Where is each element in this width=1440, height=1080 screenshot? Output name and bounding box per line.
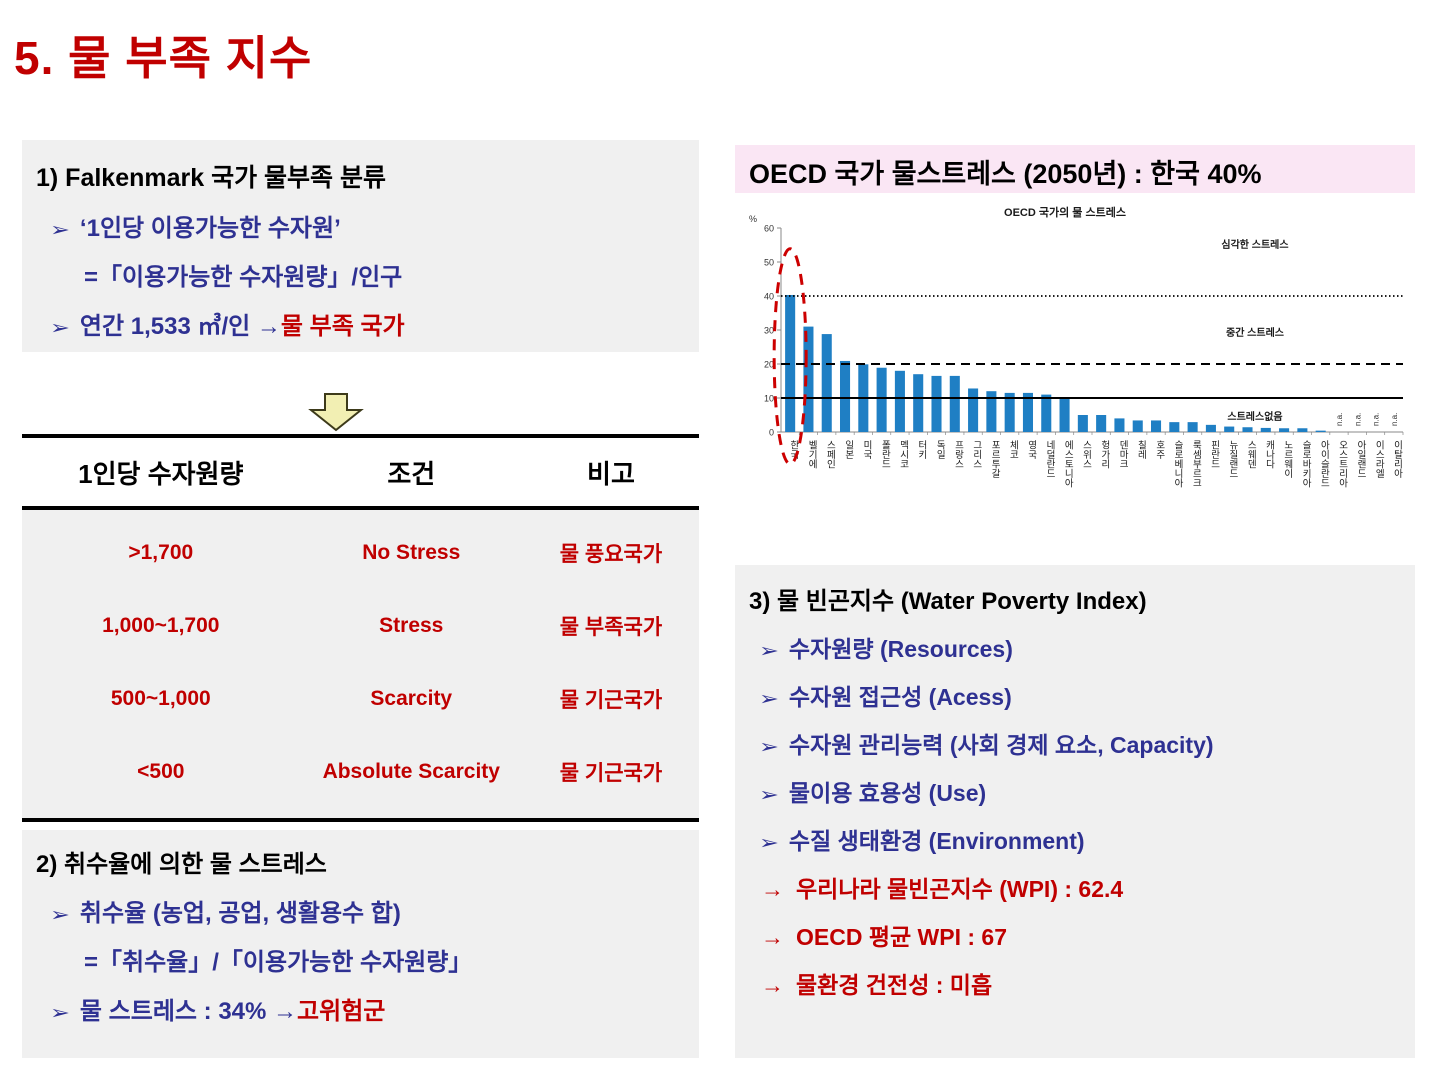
- chart-x-label: 캐나다: [1263, 440, 1274, 469]
- table-cell-condition: Scarcity: [300, 687, 523, 711]
- chart-x-label: 폴란드: [879, 440, 890, 469]
- table-row: <500 Absolute Scarcity 물 기근국가: [22, 735, 699, 808]
- section3-conclusion-1: → 우리나라 물빈곤지수 (WPI) : 62.4: [761, 870, 1415, 904]
- chart-threshold-label: 심각한 스트레스: [1221, 238, 1288, 251]
- section3-bullet-3-text: 수자원 관리능력 (사회 경제 요소, Capacity): [789, 726, 1214, 760]
- bullet-arrow-icon: ➢: [50, 317, 70, 340]
- down-arrow-icon: [308, 392, 364, 432]
- table-row: >1,700 No Stress 물 풍요국가: [22, 516, 699, 589]
- falkenmark-table: 1인당 수자원량 조건 비고 >1,700 No Stress 물 풍요국가 1…: [22, 434, 699, 820]
- section3-bullet-4: ➢ 물이용 효용성 (Use): [761, 774, 1415, 808]
- section1-bullet-2: =「이용가능한 수자원량」/인구: [84, 257, 699, 292]
- chart-x-label: 독일: [934, 440, 945, 459]
- table-cell-amount: >1,700: [22, 541, 300, 565]
- bullet-arrow-icon: ➢: [50, 219, 70, 242]
- bullet-arrow-icon: ➢: [50, 1002, 70, 1025]
- chart-x-label: 멕시코: [898, 440, 909, 469]
- table-cell-condition: Absolute Scarcity: [300, 760, 523, 784]
- chart-bar: [1078, 415, 1088, 432]
- section3-heading: 3) 물 빈곤지수 (Water Poverty Index): [749, 581, 1415, 616]
- table-cell-amount: 1,000~1,700: [22, 614, 300, 638]
- chart-x-label: 프랑스: [952, 440, 963, 469]
- section3-bullet-1: ➢ 수자원량 (Resources): [761, 630, 1415, 664]
- chart-bar: [1261, 428, 1271, 432]
- section1-bullet-1: ➢ ‘1인당 이용가능한 수자원’: [52, 208, 699, 243]
- chart-bar: [1151, 420, 1161, 432]
- bullet-arrow-icon: ➢: [759, 640, 779, 663]
- chart-bar: [1297, 428, 1307, 432]
- chart-bar: [1060, 397, 1070, 432]
- water-poverty-panel: 3) 물 빈곤지수 (Water Poverty Index) ➢ 수자원량 (…: [735, 565, 1415, 1058]
- table-row: 1,000~1,700 Stress 물 부족국가: [22, 589, 699, 662]
- right-arrow-icon: →: [761, 924, 784, 951]
- chart-na-label: n.a.: [1335, 413, 1344, 426]
- table-cell-condition: Stress: [300, 614, 523, 638]
- water-stress-panel: 2) 취수율에 의한 물 스트레스 ➢ 취수율 (농업, 공업, 생활용수 합)…: [22, 830, 699, 1058]
- section1-bullet-3: ➢ 연간 1,533 ㎥/인 → 물 부족 국가: [52, 306, 699, 341]
- chart-x-label: 에스토니아: [1062, 440, 1073, 488]
- section3-bullet-5-text: 수질 생태환경 (Environment): [789, 822, 1085, 856]
- chart-x-label: 뉴질랜드: [1227, 440, 1238, 478]
- chart-bar: [1114, 418, 1124, 432]
- chart-x-label: 호주: [1154, 440, 1165, 460]
- section1-bullet-1-text: ‘1인당 이용가능한 수자원’: [80, 208, 341, 243]
- table-cell-amount: 500~1,000: [22, 687, 300, 711]
- chart-x-label: 슬로베니아: [1172, 440, 1183, 488]
- oecd-water-stress-chart: OECD 국가의 물 스트레스%0102030405060한국벨기에스페인일본미…: [735, 200, 1415, 530]
- table-cell-note: 물 풍요국가: [523, 538, 699, 568]
- chart-x-label: 룩셈부르크: [1190, 440, 1201, 488]
- chart-bar: [1133, 420, 1143, 432]
- oecd-banner-text: OECD 국가 물스트레스 (2050년) : 한국 40%: [749, 152, 1262, 191]
- section1-heading: 1) Falkenmark 국가 물부족 분류: [36, 158, 699, 194]
- chart-canvas: OECD 국가의 물 스트레스%0102030405060한국벨기에스페인일본미…: [735, 200, 1415, 530]
- chart-y-tick-label: 30: [764, 326, 774, 336]
- section2-bullet-1-text: 취수율 (농업, 공업, 생활용수 합): [80, 893, 401, 928]
- chart-x-label: 스위스: [1081, 440, 1092, 469]
- section3-conclusion-2-text: OECD 평균 WPI : 67: [796, 918, 1007, 952]
- chart-y-unit: %: [749, 214, 757, 224]
- chart-na-label: n.a.: [1390, 413, 1399, 426]
- chart-x-label: 포르투갈: [989, 440, 1000, 478]
- chart-bar: [1206, 425, 1216, 432]
- chart-x-label: 핀란드: [1209, 440, 1220, 469]
- section2-bullet-3: ➢ 물 스트레스 : 34% → 고위험군: [52, 991, 699, 1026]
- section2-bullet-1: ➢ 취수율 (농업, 공업, 생활용수 합): [52, 893, 699, 928]
- section3-bullet-2: ➢ 수자원 접근성 (Acess): [761, 678, 1415, 712]
- chart-bar: [1279, 428, 1289, 432]
- section3-conclusion-3: → 물환경 건전성 : 미흡: [761, 966, 1415, 1000]
- table-cell-amount: <500: [22, 760, 300, 784]
- table-col-header-1: 조건: [300, 454, 523, 491]
- page-title: 5. 물 부족 지수: [14, 22, 312, 88]
- chart-bar: [931, 376, 941, 432]
- section2-bullet-2-text: =「취수율」/「이용가능한 수자원량」: [84, 942, 472, 977]
- section3-bullet-5: ➢ 수질 생태환경 (Environment): [761, 822, 1415, 856]
- chart-x-label: 그리스: [971, 440, 982, 469]
- chart-x-label: 체코: [1007, 440, 1018, 459]
- chart-y-tick-label: 40: [764, 292, 774, 302]
- section1-bullet-2-text: =「이용가능한 수자원량」/인구: [84, 257, 402, 292]
- chart-x-label: 칠레: [1135, 440, 1146, 460]
- chart-bar: [1316, 431, 1326, 432]
- chart-bar: [1188, 422, 1198, 432]
- chart-x-label: 노르웨이: [1282, 440, 1293, 479]
- chart-y-tick-label: 50: [764, 258, 774, 268]
- table-col-header-2: 비고: [523, 454, 699, 491]
- chart-na-label: n.a.: [1372, 413, 1381, 426]
- chart-x-label: 터키: [916, 440, 927, 460]
- bullet-arrow-icon: ➢: [50, 904, 70, 927]
- chart-title: OECD 국가의 물 스트레스: [1004, 205, 1126, 219]
- chart-y-tick-label: 60: [764, 224, 774, 234]
- chart-x-label: 오스트리아: [1337, 440, 1348, 488]
- chart-bar: [1096, 415, 1106, 432]
- chart-bar: [895, 371, 905, 432]
- slide-root: 5. 물 부족 지수 1) Falkenmark 국가 물부족 분류 ➢ ‘1인…: [0, 0, 1440, 1080]
- chart-y-tick-label: 20: [764, 360, 774, 370]
- table-header-row: 1인당 수자원량 조건 비고: [22, 438, 699, 506]
- chart-bar: [840, 361, 850, 432]
- section2-bullet-3-emphasis: 고위험군: [297, 991, 385, 1026]
- bullet-arrow-icon: ➢: [759, 832, 779, 855]
- chart-threshold-label: 중간 스트레스: [1226, 326, 1284, 339]
- chart-y-tick-label: 10: [764, 394, 774, 404]
- section1-bullet-3-emphasis: 물 부족 국가: [281, 306, 405, 341]
- table-bottom-rule: [22, 818, 699, 822]
- chart-bar: [1242, 427, 1252, 432]
- table-cell-note: 물 부족국가: [523, 611, 699, 641]
- chart-threshold-label: 스트레스없음: [1227, 410, 1282, 423]
- chart-bar: [950, 376, 960, 432]
- chart-x-label: 네덜란드: [1044, 440, 1055, 478]
- section1-bullet-3-text: 연간 1,533 ㎥/인 →: [80, 306, 281, 341]
- chart-bar: [822, 334, 832, 432]
- chart-x-label: 한국: [788, 440, 799, 460]
- section3-bullet-4-text: 물이용 효용성 (Use): [789, 774, 986, 808]
- chart-bar: [913, 374, 923, 432]
- chart-x-label: 벨기에: [806, 440, 817, 469]
- table-row: 500~1,000 Scarcity 물 기근국가: [22, 662, 699, 735]
- chart-x-label: 헝가리: [1099, 440, 1110, 469]
- chart-bar: [877, 368, 887, 432]
- chart-bar: [968, 388, 978, 432]
- right-arrow-icon: →: [761, 876, 784, 903]
- bullet-arrow-icon: ➢: [759, 736, 779, 759]
- table-col-header-0: 1인당 수자원량: [22, 454, 300, 491]
- chart-x-label: 슬로바키아: [1300, 440, 1311, 488]
- section2-bullet-3-text: 물 스트레스 : 34% →: [80, 991, 297, 1026]
- chart-x-label: 덴마크: [1117, 440, 1128, 469]
- table-cell-note: 물 기근국가: [523, 684, 699, 714]
- section3-conclusion-2: → OECD 평균 WPI : 67: [761, 918, 1415, 952]
- chart-x-label: 미국: [861, 440, 872, 460]
- chart-x-label: 스페인: [824, 440, 835, 469]
- chart-x-label: 아이슬란드: [1318, 440, 1329, 488]
- chart-bar: [1224, 427, 1234, 432]
- falkenmark-panel: 1) Falkenmark 국가 물부족 분류 ➢ ‘1인당 이용가능한 수자원…: [22, 140, 699, 352]
- section3-bullet-1-text: 수자원량 (Resources): [789, 630, 1013, 664]
- chart-x-label: 이스라엘: [1373, 440, 1384, 478]
- chart-x-label: 스웨덴: [1245, 440, 1256, 469]
- table-cell-condition: No Stress: [300, 541, 523, 565]
- chart-bar: [1169, 422, 1179, 432]
- chart-x-label: 영국: [1026, 440, 1037, 460]
- section2-heading: 2) 취수율에 의한 물 스트레스: [36, 844, 699, 879]
- bullet-arrow-icon: ➢: [759, 784, 779, 807]
- chart-x-label: 이탈리아: [1392, 440, 1403, 479]
- section3-bullet-2-text: 수자원 접근성 (Acess): [789, 678, 1012, 712]
- chart-na-label: n.a.: [1353, 413, 1362, 426]
- chart-y-tick-label: 0: [769, 428, 774, 438]
- chart-x-label: 일본: [843, 440, 854, 459]
- oecd-banner: OECD 국가 물스트레스 (2050년) : 한국 40%: [735, 145, 1415, 193]
- section3-conclusion-3-text: 물환경 건전성 : 미흡: [796, 966, 992, 1000]
- chart-x-label: 아일랜드: [1355, 440, 1366, 478]
- bullet-arrow-icon: ➢: [759, 688, 779, 711]
- table-body: >1,700 No Stress 물 풍요국가 1,000~1,700 Stre…: [22, 510, 699, 818]
- section3-bullet-3: ➢ 수자원 관리능력 (사회 경제 요소, Capacity): [761, 726, 1415, 760]
- right-arrow-icon: →: [761, 972, 784, 999]
- section2-bullet-2: =「취수율」/「이용가능한 수자원량」: [84, 942, 699, 977]
- chart-bar: [1041, 395, 1051, 432]
- table-cell-note: 물 기근국가: [523, 757, 699, 787]
- section3-conclusion-1-text: 우리나라 물빈곤지수 (WPI) : 62.4: [796, 870, 1123, 904]
